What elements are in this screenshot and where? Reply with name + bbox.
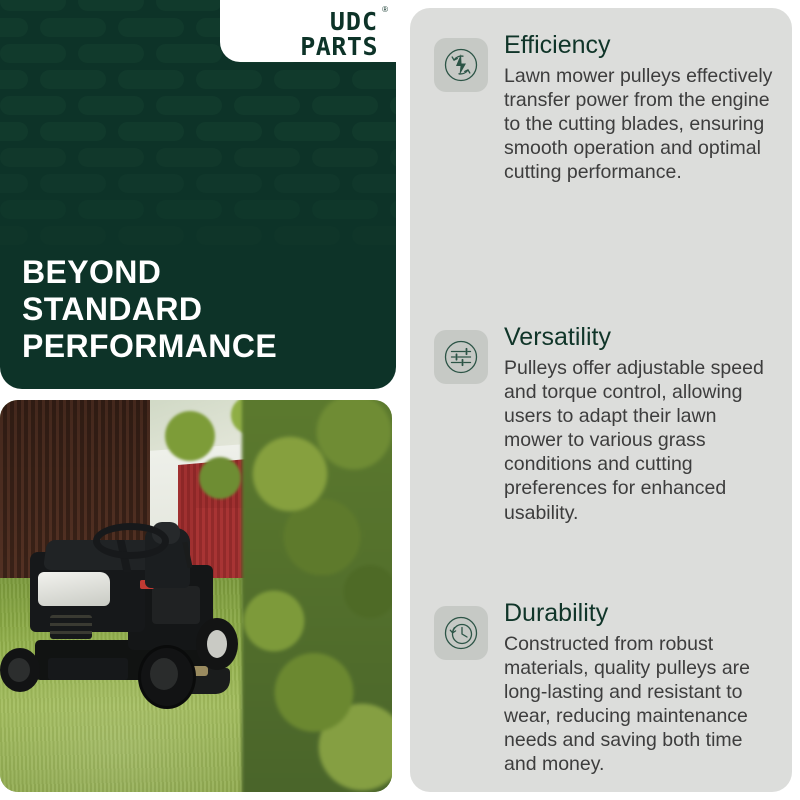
photo-tree-right [242,400,392,792]
feature-text-durability: Durability Constructed from robust mater… [504,600,778,777]
feature-card-durability: Durability Constructed from robust mater… [434,600,778,777]
feature-text-efficiency: Efficiency Lawn mower pulleys effectivel… [504,32,778,184]
feature-card-versatility: Versatility Pulleys offer adjustable spe… [434,324,778,525]
feature-title-durability: Durability [504,600,778,628]
logo-text-udc: UDC® [330,9,378,34]
feature-body-versatility: Pulleys offer adjustable speed and torqu… [504,356,778,525]
headline-line-1: BEYOND [22,254,374,291]
registered-trademark-icon: ® [382,6,389,14]
mower-engine-block [152,586,200,624]
mower-headlight [38,572,110,606]
mower-steering-wheel [93,523,169,559]
headline-line-2: STANDARD [22,291,374,328]
mower-far-hub [8,658,30,682]
feature-card-efficiency: Efficiency Lawn mower pulleys effectivel… [434,32,778,184]
feature-title-efficiency: Efficiency [504,32,778,60]
logo-text-parts: PARTS [300,34,378,59]
page-title: BEYOND STANDARD PERFORMANCE [22,254,374,365]
feature-body-efficiency: Lawn mower pulleys effectively transfer … [504,64,778,185]
mower-front-hub [150,658,178,690]
mower-footboard [48,658,128,680]
feature-body-durability: Constructed from robust materials, quali… [504,632,778,777]
durability-clock-history-icon [434,606,488,660]
efficiency-bolt-cycle-icon [434,38,488,92]
infographic-page: BEYOND STANDARD PERFORMANCE UDC® PARTS [0,0,800,800]
feature-title-versatility: Versatility [504,324,778,352]
brand-logo: UDC® PARTS [208,6,378,62]
features-panel: Efficiency Lawn mower pulleys effectivel… [410,8,792,792]
left-column: BEYOND STANDARD PERFORMANCE UDC® PARTS [0,0,396,800]
versatility-sliders-icon [434,330,488,384]
feature-text-versatility: Versatility Pulleys offer adjustable spe… [504,324,778,525]
mower-rear-hub [207,630,227,658]
mower-grille [50,615,92,639]
headline-line-3: PERFORMANCE [22,328,374,365]
lawn-mower-photo [0,400,392,792]
